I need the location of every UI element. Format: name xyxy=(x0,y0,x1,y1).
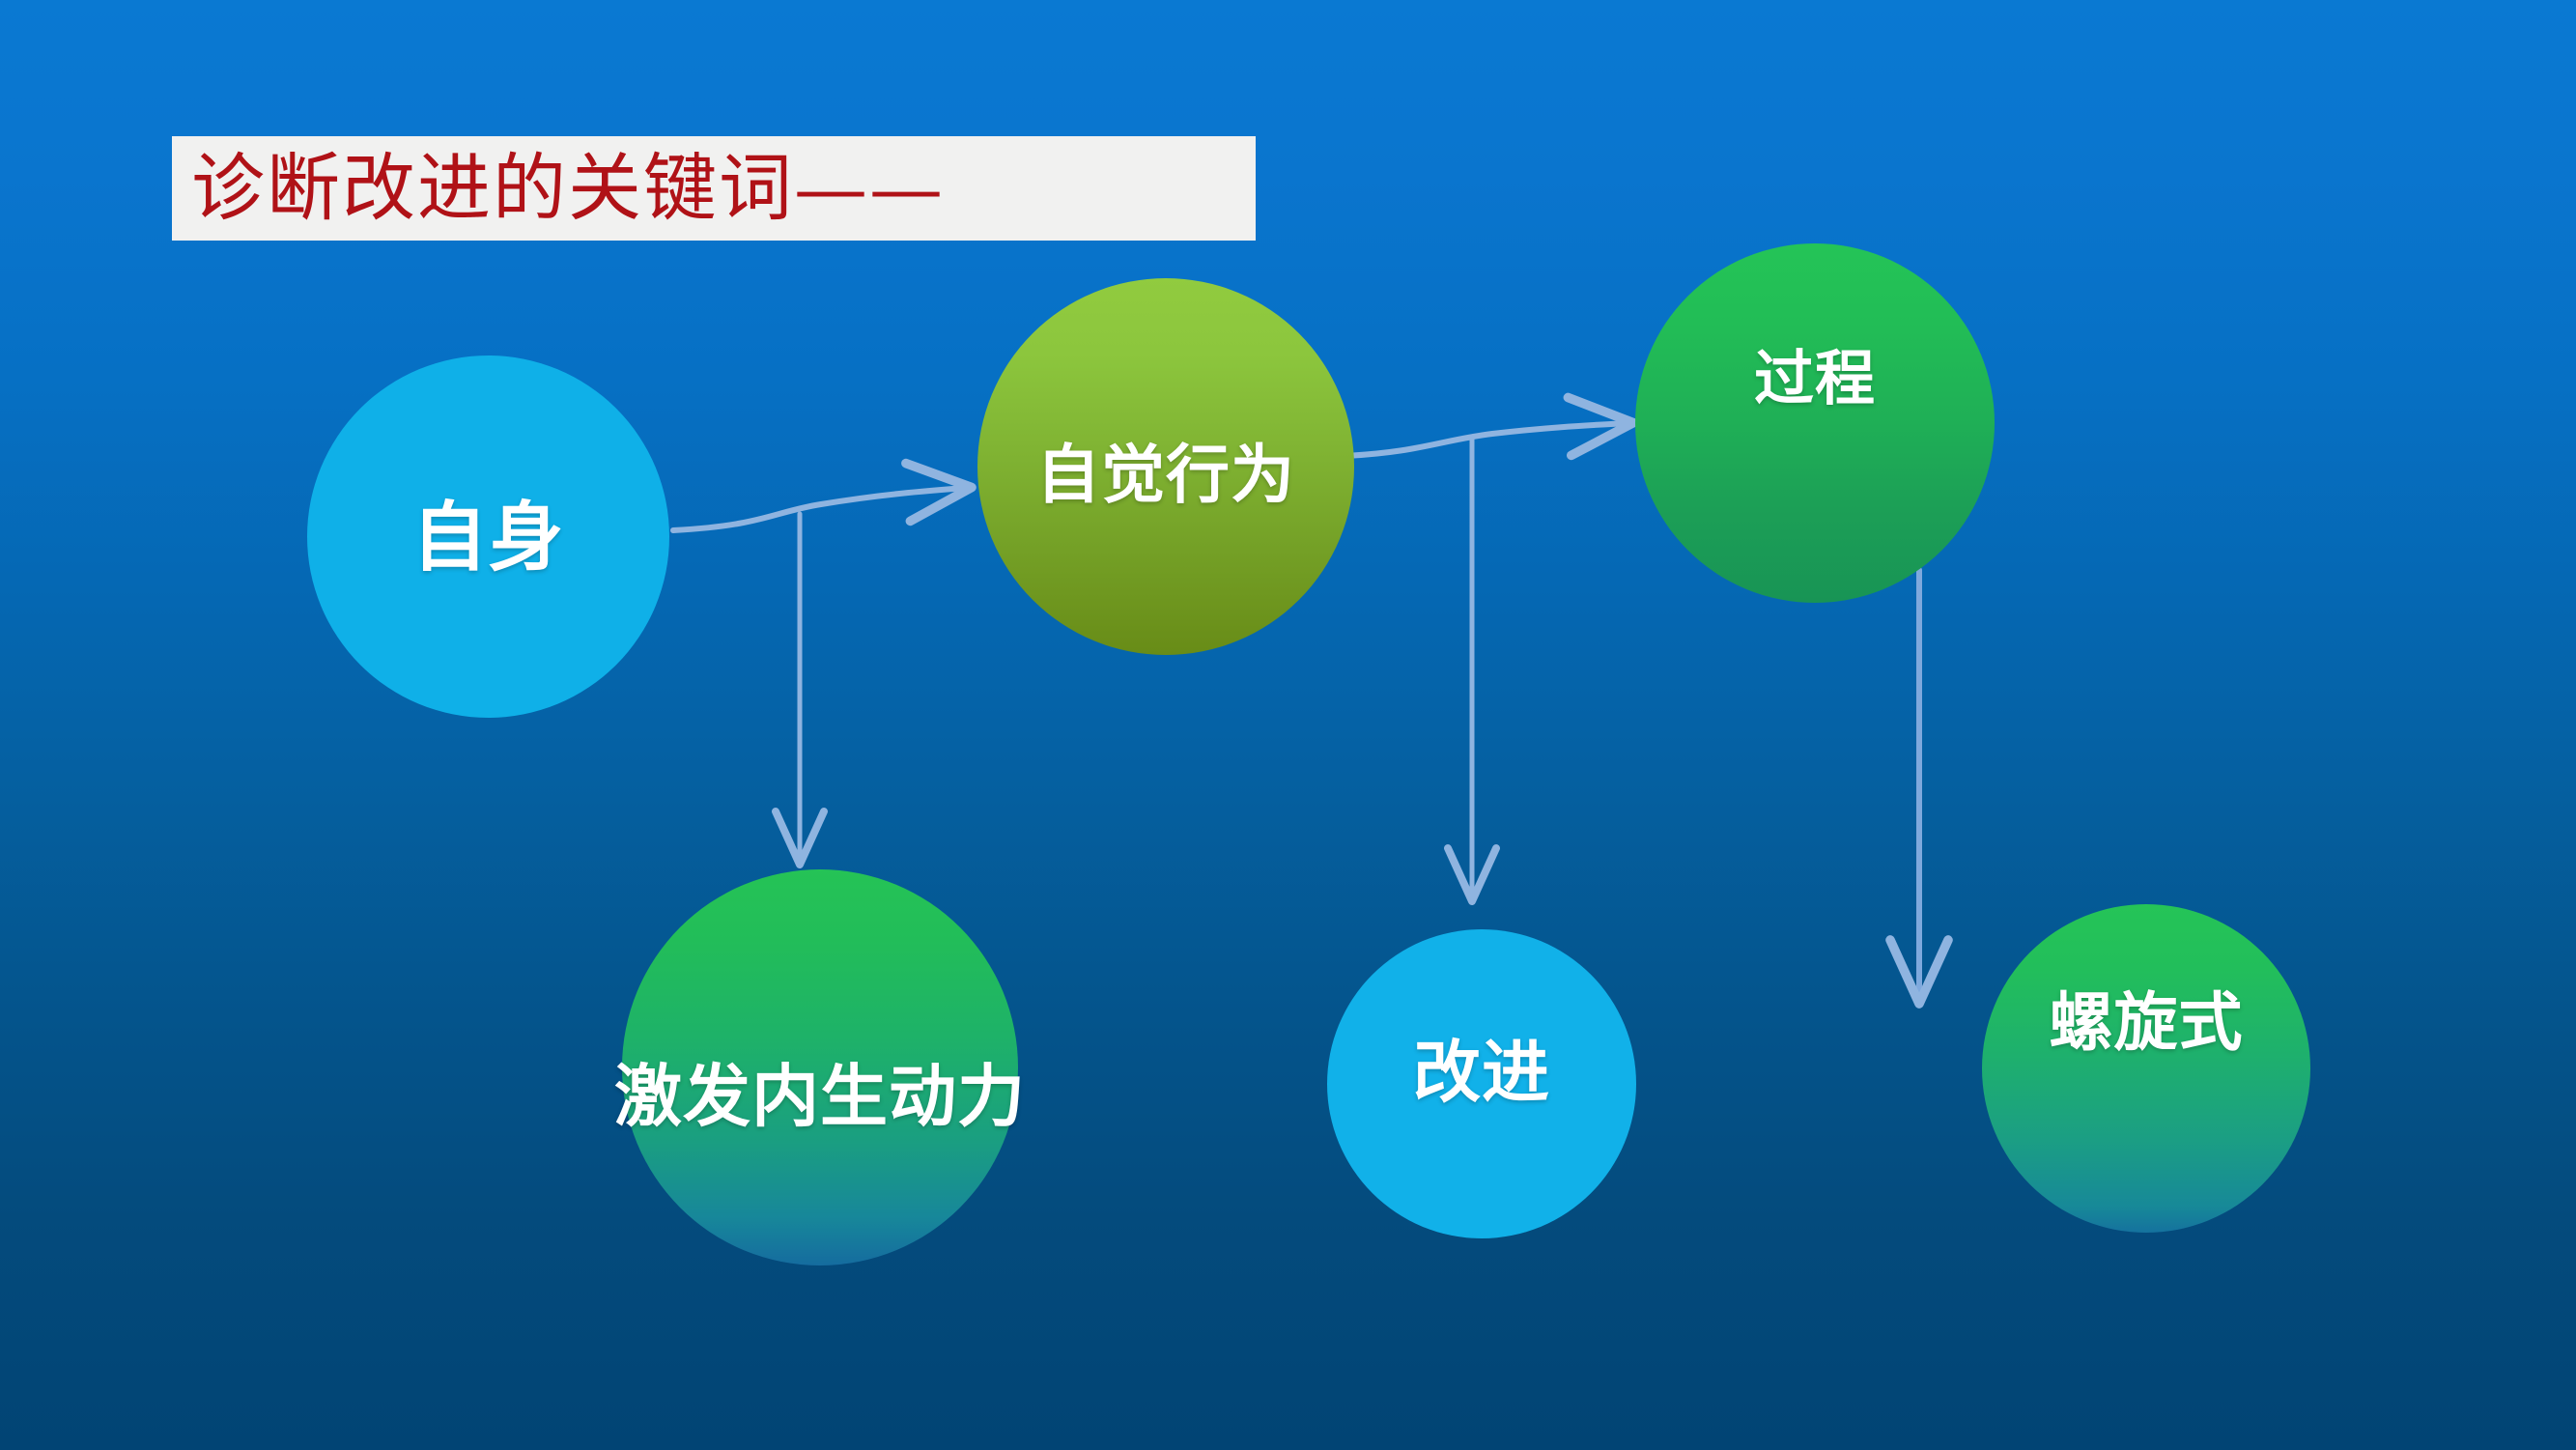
node-zijuexingwei[interactable]: 自觉行为 xyxy=(977,278,1354,655)
node-gaijin[interactable]: 改进 xyxy=(1327,929,1636,1238)
slide-canvas: 诊断改进的关键词—— xyxy=(0,0,2576,1450)
node-zishen-label: 自身 xyxy=(411,499,564,575)
page-title: 诊断改进的关键词—— xyxy=(172,152,945,225)
node-luoxuanshi-label: 螺旋式 xyxy=(2050,990,2244,1054)
node-jifaneishengdongli[interactable]: 激发内生动力 xyxy=(622,869,1018,1265)
node-guocheng-label: 过程 xyxy=(1754,350,1876,410)
node-luoxuanshi[interactable]: 螺旋式 xyxy=(1982,904,2310,1233)
connector-zijuexingwei-to-guocheng xyxy=(1345,423,1628,456)
node-guocheng[interactable]: 过程 xyxy=(1635,243,1995,603)
slide-title-box: 诊断改进的关键词—— xyxy=(172,136,1256,241)
connector-zishen-to-zijuexingwei xyxy=(673,488,966,530)
node-zishen[interactable]: 自身 xyxy=(307,355,669,718)
node-zijuexingwei-label: 自觉行为 xyxy=(1036,442,1295,506)
node-gaijin-label: 改进 xyxy=(1413,1038,1550,1106)
node-jifaneishengdongli-label: 激发内生动力 xyxy=(614,1063,1026,1130)
